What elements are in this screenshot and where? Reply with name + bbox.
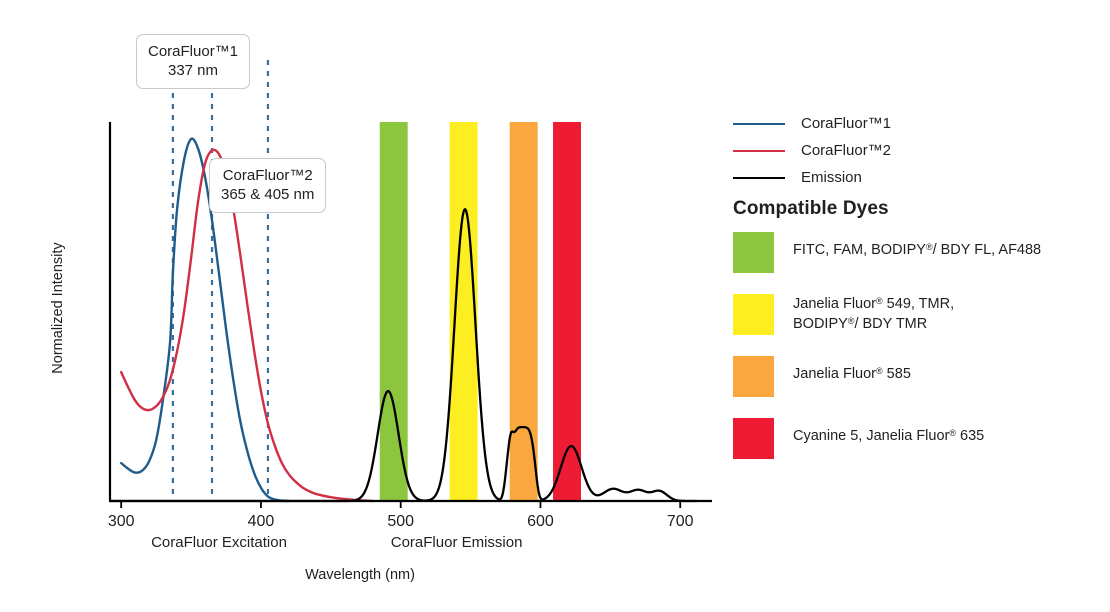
spectra-figure: 300400500600700CoraFluor ExcitationCoraF… (0, 0, 1110, 612)
dye-row: Janelia Fluor® 585 (733, 356, 1109, 397)
compatible-dyes-title: Compatible Dyes (733, 198, 889, 220)
callout-2-line1: CoraFluor™2 (221, 166, 314, 185)
legend-label-corafluor1: CoraFluor™1 (801, 115, 891, 132)
annotation-callout-corafluor1: CoraFluor™1 337 nm (136, 34, 250, 89)
excitation-region-label: CoraFluor Excitation (151, 534, 287, 551)
dye-color-swatch (733, 232, 774, 273)
dye-label: Janelia Fluor® 549, TMR,BODIPY®/ BDY TMR (793, 294, 954, 334)
x-tick-label: 600 (527, 513, 554, 530)
dye-label: FITC, FAM, BODIPY®/ BDY FL, AF488 (793, 232, 1041, 261)
x-tick-label: 400 (248, 513, 275, 530)
legend-label-corafluor2: CoraFluor™2 (801, 142, 891, 159)
dye-label: Cyanine 5, Janelia Fluor® 635 (793, 418, 984, 447)
callout-1-line1: CoraFluor™1 (148, 42, 238, 61)
dye-row: Cyanine 5, Janelia Fluor® 635 (733, 418, 1109, 459)
yellow-band (450, 122, 478, 501)
red-band (553, 122, 581, 501)
legend-line-swatch-emission (733, 177, 785, 179)
line-legend: CoraFluor™1 CoraFluor™2 Emission (733, 110, 1103, 191)
dye-label: Janelia Fluor® 585 (793, 356, 911, 385)
green-band (380, 122, 408, 501)
chart-plot-area: 300400500600700CoraFluor ExcitationCoraF… (0, 0, 720, 612)
legend-line-swatch-corafluor2 (733, 150, 785, 152)
spectra-chart-svg: 300400500600700CoraFluor ExcitationCoraF… (0, 0, 720, 612)
legend-line-swatch-corafluor1 (733, 123, 785, 125)
dye-row: FITC, FAM, BODIPY®/ BDY FL, AF488 (733, 232, 1109, 273)
legend-label-emission: Emission (801, 169, 862, 186)
legend-item-corafluor2: CoraFluor™2 (733, 137, 1103, 164)
callout-2-line2: 365 & 405 nm (221, 185, 314, 204)
right-panel: CoraFluor™1 CoraFluor™2 Emission Compati… (728, 0, 1110, 612)
callout-1-line2: 337 nm (148, 61, 238, 80)
dye-color-swatch (733, 418, 774, 459)
annotation-callout-corafluor2: CoraFluor™2 365 & 405 nm (209, 158, 326, 213)
x-tick-label: 700 (667, 513, 694, 530)
x-axis-title: Wavelength (nm) (0, 567, 720, 583)
legend-item-emission: Emission (733, 164, 1103, 191)
emission-region-label: CoraFluor Emission (391, 534, 523, 551)
dye-color-swatch (733, 356, 774, 397)
legend-item-corafluor1: CoraFluor™1 (733, 110, 1103, 137)
dye-color-swatch (733, 294, 774, 335)
y-axis-label: Normalized Intensity (50, 208, 66, 408)
x-tick-label: 500 (387, 513, 414, 530)
x-tick-label: 300 (108, 513, 135, 530)
dye-row: Janelia Fluor® 549, TMR,BODIPY®/ BDY TMR (733, 294, 1109, 335)
